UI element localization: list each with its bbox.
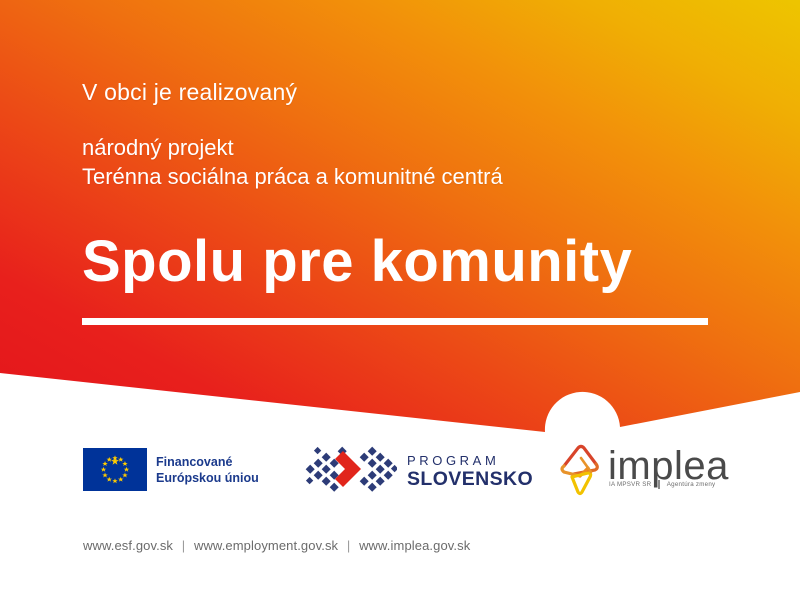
implea-logo: implea IA MPSVR SR Agentúra zmeny [558, 442, 729, 501]
intro-line: V obci je realizovaný [82, 78, 742, 107]
footer-link-employment[interactable]: www.employment.gov.sk [194, 538, 338, 553]
page-title: Spolu pre komunity [82, 232, 632, 293]
headline-block: V obci je realizovaný národný projekt Te… [82, 78, 742, 192]
program-slovensko-logo: PROGRAM SLOVENSKO [305, 446, 533, 497]
implea-sub-divider [658, 480, 660, 489]
eu-flag-icon [83, 448, 147, 491]
eu-text-line-2: Európskou úniou [156, 470, 259, 486]
subline-1: národný projekt [82, 133, 742, 163]
eu-text-line-1: Financované [156, 454, 259, 470]
implea-mark-icon [558, 444, 606, 501]
implea-wordmark-block: implea IA MPSVR SR Agentúra zmeny [608, 442, 729, 486]
footer-separator-1: | [177, 538, 190, 553]
footer-separator-2: | [342, 538, 355, 553]
implea-sub-right: Agentúra zmeny [667, 481, 716, 488]
footer-link-implea[interactable]: www.implea.gov.sk [359, 538, 470, 553]
logo-row: Financované Európskou úniou [0, 438, 800, 500]
ps-program-text: PROGRAM [407, 454, 533, 467]
footer-link-esf[interactable]: www.esf.gov.sk [83, 538, 173, 553]
promo-slide: V obci je realizovaný národný projekt Te… [0, 0, 800, 600]
subline-2: Terénna sociálna práca a komunitné centr… [82, 162, 742, 192]
program-slovensko-mark-icon [305, 446, 397, 497]
implea-sub-left: IA MPSVR SR [609, 481, 651, 488]
footer-links: www.esf.gov.sk | www.employment.gov.sk |… [83, 538, 470, 553]
title-underline-rule [82, 318, 708, 325]
program-slovensko-wordmark: PROGRAM SLOVENSKO [407, 454, 533, 490]
eu-stars-icon [83, 448, 147, 491]
eu-funding-logo: Financované Európskou úniou [83, 448, 259, 491]
ps-slovensko-text: SLOVENSKO [407, 470, 533, 490]
implea-subtext: IA MPSVR SR Agentúra zmeny [609, 480, 715, 489]
eu-funding-text: Financované Európskou úniou [156, 454, 259, 486]
